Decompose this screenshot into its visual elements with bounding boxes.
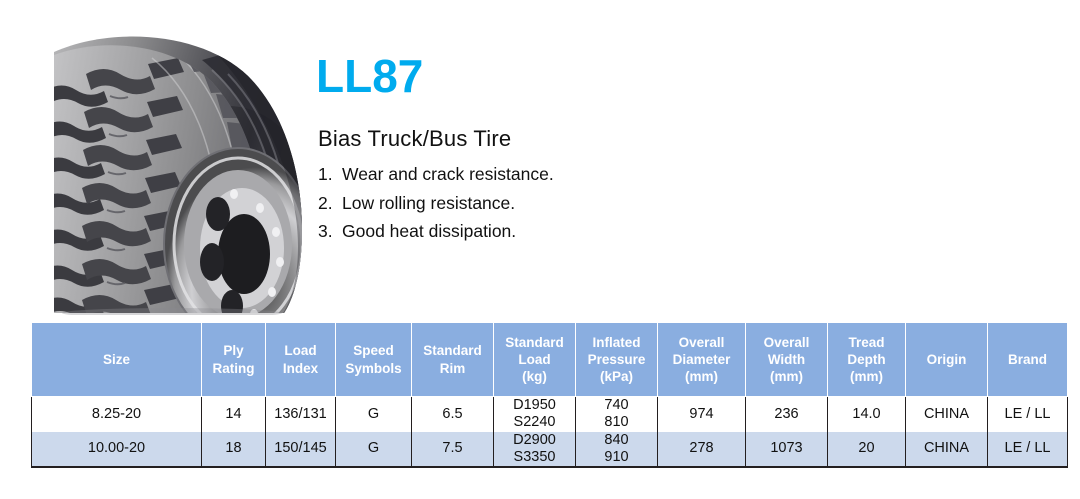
cell-brand: LE / LL [988, 397, 1068, 432]
cell-inflated-pressure: 840910 [576, 432, 658, 467]
cell-line: 740 [578, 397, 655, 414]
column-header-line: Overall [748, 334, 825, 351]
table-body: 8.25-20 14 136/131 G 6.5 D1950S2240 7408… [32, 397, 1068, 467]
cell-line: S2240 [496, 414, 573, 431]
cell-standard-rim: 6.5 [412, 397, 494, 432]
column-header-line: Symbols [338, 360, 409, 377]
cell-speed-symbols: G [336, 397, 412, 432]
cell-line: S3350 [496, 449, 573, 466]
specification-table: Size PlyRating LoadIndex SpeedSymbols St… [31, 322, 1068, 468]
column-header-line: Rating [204, 360, 263, 377]
cell-line: 910 [578, 449, 655, 466]
cell-overall-width: 236 [746, 397, 828, 432]
feature-item: 3. Good heat dissipation. [318, 217, 1016, 245]
column-header-line: Origin [908, 351, 985, 368]
column-header-line: Width [748, 351, 825, 368]
product-header-area: LL87 Bias Truck/Bus Tire 1. Wear and cra… [0, 0, 1080, 316]
column-header-line: Load [268, 342, 333, 359]
feature-number: 1. [318, 160, 342, 188]
cell-ply-rating: 18 [202, 432, 266, 467]
cell-origin: CHINA [906, 397, 988, 432]
cell-size: 10.00-20 [32, 432, 202, 467]
column-header-line: Ply [204, 342, 263, 359]
column-header-speed-symbols: SpeedSymbols [336, 323, 412, 397]
column-header-origin: Origin [906, 323, 988, 397]
cell-overall-width: 1073 [746, 432, 828, 467]
column-header-line: (mm) [748, 368, 825, 385]
feature-item: 1. Wear and crack resistance. [318, 160, 1016, 188]
column-header-brand: Brand [988, 323, 1068, 397]
cell-inflated-pressure: 740810 [576, 397, 658, 432]
cell-ply-rating: 14 [202, 397, 266, 432]
column-header-line: Load [496, 351, 573, 368]
table-row: 10.00-20 18 150/145 G 7.5 D2900S3350 840… [32, 432, 1068, 467]
cell-size: 8.25-20 [32, 397, 202, 432]
column-header-standard-rim: StandardRim [412, 323, 494, 397]
cell-load-index: 136/131 [266, 397, 336, 432]
table-header: Size PlyRating LoadIndex SpeedSymbols St… [32, 323, 1068, 397]
cell-load-index: 150/145 [266, 432, 336, 467]
column-header-line: Standard [496, 334, 573, 351]
product-info-block: LL87 Bias Truck/Bus Tire 1. Wear and cra… [316, 52, 1016, 245]
column-header-line: (mm) [830, 368, 903, 385]
column-header-overall-width: OverallWidth(mm) [746, 323, 828, 397]
product-feature-list: 1. Wear and crack resistance. 2. Low rol… [316, 160, 1016, 245]
cell-speed-symbols: G [336, 432, 412, 467]
column-header-size: Size [32, 323, 202, 397]
column-header-line: Speed [338, 342, 409, 359]
tire-product-image [52, 30, 310, 315]
column-header-line: Index [268, 360, 333, 377]
feature-item: 2. Low rolling resistance. [318, 189, 1016, 217]
tire-illustration [52, 30, 310, 315]
column-header-line: (kPa) [578, 368, 655, 385]
column-header-ply-rating: PlyRating [202, 323, 266, 397]
column-header-standard-load: StandardLoad(kg) [494, 323, 576, 397]
column-header-overall-diameter: OverallDiameter(mm) [658, 323, 746, 397]
column-header-line: Rim [414, 360, 491, 377]
column-header-load-index: LoadIndex [266, 323, 336, 397]
feature-text: Low rolling resistance. [342, 189, 1016, 217]
feature-text: Wear and crack resistance. [342, 160, 1016, 188]
specification-table-container: Size PlyRating LoadIndex SpeedSymbols St… [31, 322, 1047, 468]
cell-brand: LE / LL [988, 432, 1068, 467]
column-header-tread-depth: TreadDepth(mm) [828, 323, 906, 397]
cell-line: D2900 [496, 432, 573, 449]
column-header-line: Brand [990, 351, 1065, 368]
cell-origin: CHINA [906, 432, 988, 467]
column-header-line: Inflated [578, 334, 655, 351]
column-header-line: Diameter [660, 351, 743, 368]
column-header-inflated-pressure: InflatedPressure(kPa) [576, 323, 658, 397]
column-header-line: Overall [660, 334, 743, 351]
column-header-line: Depth [830, 351, 903, 368]
product-code-title: LL87 [316, 52, 1016, 100]
column-header-line: (mm) [660, 368, 743, 385]
cell-line: D1950 [496, 397, 573, 414]
cell-tread-depth: 20 [828, 432, 906, 467]
column-header-line: Tread [830, 334, 903, 351]
column-header-line: Size [34, 351, 199, 368]
cell-overall-diameter: 974 [658, 397, 746, 432]
cell-standard-rim: 7.5 [412, 432, 494, 467]
column-header-line: Standard [414, 342, 491, 359]
cell-tread-depth: 14.0 [828, 397, 906, 432]
table-header-row: Size PlyRating LoadIndex SpeedSymbols St… [32, 323, 1068, 397]
cell-line: 840 [578, 432, 655, 449]
feature-text: Good heat dissipation. [342, 217, 1016, 245]
cell-line: 810 [578, 414, 655, 431]
product-subtitle: Bias Truck/Bus Tire [318, 126, 1016, 152]
cell-standard-load: D2900S3350 [494, 432, 576, 467]
table-row: 8.25-20 14 136/131 G 6.5 D1950S2240 7408… [32, 397, 1068, 432]
feature-number: 3. [318, 217, 342, 245]
cell-overall-diameter: 278 [658, 432, 746, 467]
column-header-line: (kg) [496, 368, 573, 385]
feature-number: 2. [318, 189, 342, 217]
cell-standard-load: D1950S2240 [494, 397, 576, 432]
column-header-line: Pressure [578, 351, 655, 368]
